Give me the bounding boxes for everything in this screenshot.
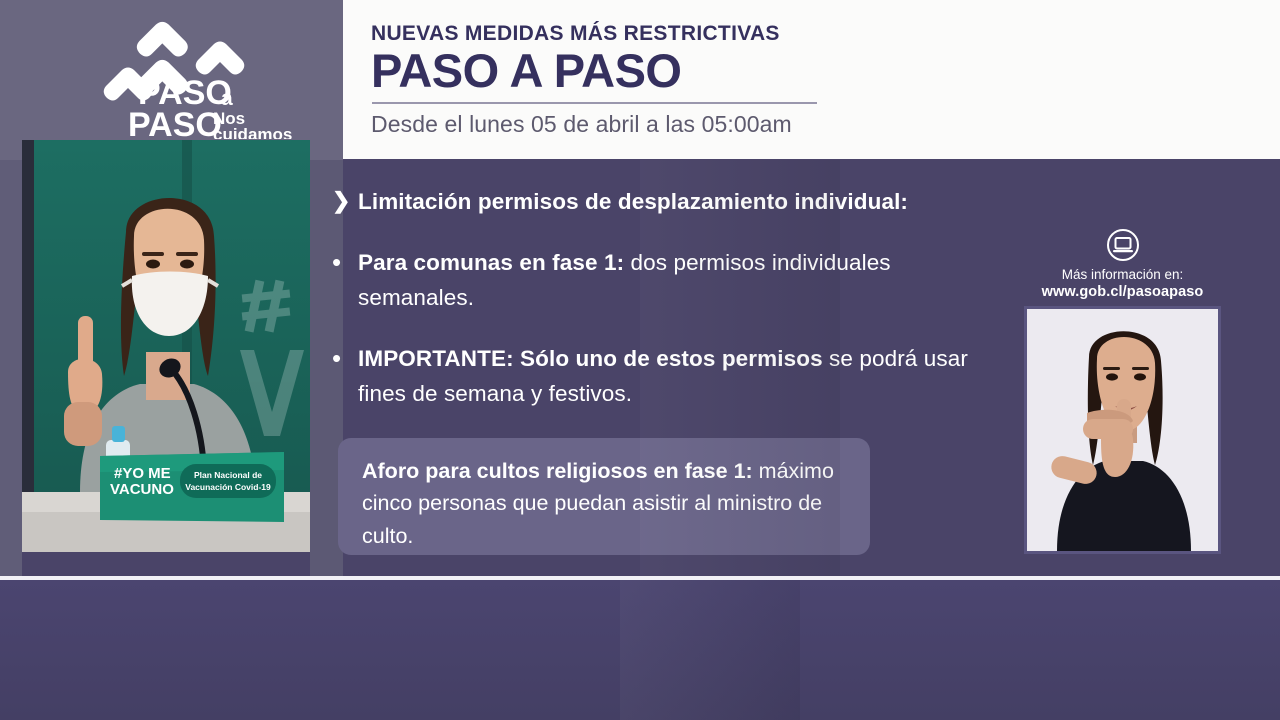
- bullet-dot-icon: •: [332, 342, 358, 412]
- list-item-text: IMPORTANTE: Sólo uno de estos permisos s…: [358, 342, 1002, 412]
- highlight-text: Aforo para cultos religiosos en fase 1: …: [362, 455, 846, 552]
- list-item-text: Para comunas en fase 1: dos permisos ind…: [358, 246, 1002, 316]
- list-item-bold: Para comunas en fase 1:: [358, 250, 624, 275]
- header-subtitle: Desde el lunes 05 de abril a las 05:00am: [371, 111, 1280, 138]
- podium-plan-line2: Vacunación Covid-19: [185, 482, 271, 492]
- measures-list: ❯ Limitación permisos de desplazamiento …: [332, 185, 1002, 437]
- list-item-bold: Limitación permisos de desplazamiento in…: [358, 189, 908, 214]
- list-item: • IMPORTANTE: Sólo uno de estos permisos…: [332, 342, 1002, 412]
- more-info-label: Más información en:: [1024, 267, 1221, 284]
- podium-hashtag-line2: VACUNO: [110, 481, 174, 498]
- speaker-video: #YO ME VACUNO Plan Nacional de Vacunació…: [22, 140, 310, 552]
- list-item: ❯ Limitación permisos de desplazamiento …: [332, 185, 1002, 220]
- list-item: • Para comunas en fase 1: dos permisos i…: [332, 246, 1002, 316]
- podium-plan-line1: Plan Nacional de: [194, 470, 262, 480]
- highlight-callout-box: Aforo para cultos religiosos en fase 1: …: [338, 438, 870, 555]
- bullet-dot-icon: •: [332, 246, 358, 316]
- more-info-block: Más información en: www.gob.cl/pasoapaso: [1024, 228, 1221, 300]
- highlight-bold: Aforo para cultos religiosos en fase 1:: [362, 459, 753, 483]
- logo-cuidamos: cuidamos: [213, 125, 292, 139]
- paso-a-paso-logo: PASO a PASO Nos cuidamos: [100, 14, 305, 139]
- podium-hashtag-line1: #YO ME: [114, 465, 171, 482]
- podium-sign: #YO ME VACUNO Plan Nacional de Vacunació…: [100, 452, 284, 522]
- list-item-text: Limitación permisos de desplazamiento in…: [358, 185, 908, 220]
- sign-language-interpreter-video: [1024, 306, 1221, 554]
- header-title: PASO A PASO: [371, 46, 1280, 95]
- logo-a: a: [221, 87, 233, 110]
- laptop-circle-icon: [1024, 228, 1221, 262]
- header-panel: NUEVAS MEDIDAS MÁS RESTRICTIVAS PASO A P…: [343, 0, 1280, 159]
- header-kicker: NUEVAS MEDIDAS MÁS RESTRICTIVAS: [371, 22, 1280, 45]
- chevron-right-icon: ❯: [332, 185, 358, 220]
- broadcast-frame: PASO a PASO Nos cuidamos NUEVAS MEDIDAS …: [0, 0, 1280, 720]
- more-info-url[interactable]: www.gob.cl/pasoapaso: [1024, 284, 1221, 300]
- header-rule: [372, 102, 817, 104]
- band-sheen: [620, 580, 800, 720]
- logo-paso-line2: PASO: [128, 106, 222, 139]
- bottom-band: [0, 580, 1280, 720]
- list-item-bold: IMPORTANTE: Sólo uno de estos permisos: [358, 346, 823, 371]
